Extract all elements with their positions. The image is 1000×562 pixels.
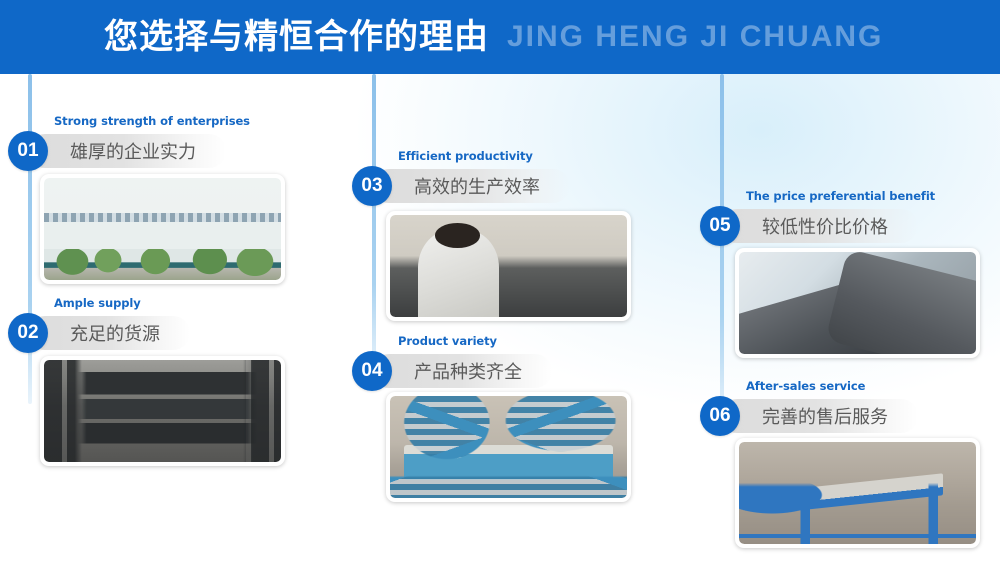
feature-title-en-05: The price preferential benefit [746, 189, 935, 203]
feature-title-pill-03: 高效的生产效率 [372, 169, 570, 203]
worker-at-bench-image [390, 215, 627, 317]
feature-title-en-01: Strong strength of enterprises [54, 114, 250, 128]
banner-header: 您选择与精恒合作的理由 JING HENG JI CHUANG [0, 0, 1000, 74]
feature-number-badge-01: 01 [8, 131, 48, 171]
feature-number-06: 06 [709, 405, 730, 427]
handshake-image [739, 252, 976, 354]
feature-title-pill-04: 产品种类齐全 [372, 354, 552, 388]
feature-title-en-03: Efficient productivity [398, 149, 533, 163]
connector-line-column-1 [28, 74, 32, 404]
feature-title-pill-05: 较低性价比价格 [720, 209, 918, 243]
feature-number-05: 05 [709, 215, 730, 237]
connector-line-column-2 [372, 74, 376, 374]
feature-title-cn-01: 雄厚的企业实力 [70, 138, 196, 164]
welding-table-photo [735, 438, 980, 548]
blue-machine-tables-image [390, 396, 627, 498]
feature-number-badge-04: 04 [352, 351, 392, 391]
page-title: 您选择与精恒合作的理由 [104, 20, 489, 54]
promo-banner: 您选择与精恒合作的理由 JING HENG JI CHUANG 雄厚的企业实力 … [0, 0, 1000, 562]
feature-title-pill-06: 完善的售后服务 [720, 399, 918, 433]
machine-beds-stock-photo [40, 356, 285, 466]
handshake-photo [735, 248, 980, 358]
feature-title-en-06: After-sales service [746, 379, 865, 393]
feature-title-cn-02: 充足的货源 [70, 320, 160, 346]
feature-title-en-02: Ample supply [54, 296, 141, 310]
feature-title-cn-05: 较低性价比价格 [762, 213, 888, 239]
feature-number-badge-06: 06 [700, 396, 740, 436]
feature-title-cn-06: 完善的售后服务 [762, 403, 888, 429]
feature-title-pill-01: 雄厚的企业实力 [28, 134, 226, 168]
feature-title-cn-03: 高效的生产效率 [414, 173, 540, 199]
feature-title-pill-02: 充足的货源 [28, 316, 190, 350]
feature-number-01: 01 [17, 140, 38, 162]
machine-beds-image [44, 360, 281, 462]
feature-number-badge-03: 03 [352, 166, 392, 206]
feature-number-04: 04 [361, 360, 382, 382]
worker-at-bench-photo [386, 211, 631, 321]
feature-number-badge-05: 05 [700, 206, 740, 246]
feature-title-en-04: Product variety [398, 334, 497, 348]
feature-number-badge-02: 02 [8, 313, 48, 353]
blue-machine-tables-photo [386, 392, 631, 502]
welding-table-image [739, 442, 976, 544]
feature-number-02: 02 [17, 322, 38, 344]
connector-line-column-3 [720, 74, 724, 419]
factory-building-photo [40, 174, 285, 284]
feature-title-cn-04: 产品种类齐全 [414, 358, 522, 384]
factory-building-image [44, 178, 281, 280]
feature-number-03: 03 [361, 175, 382, 197]
page-subtitle-pinyin: JING HENG JI CHUANG [507, 22, 883, 52]
